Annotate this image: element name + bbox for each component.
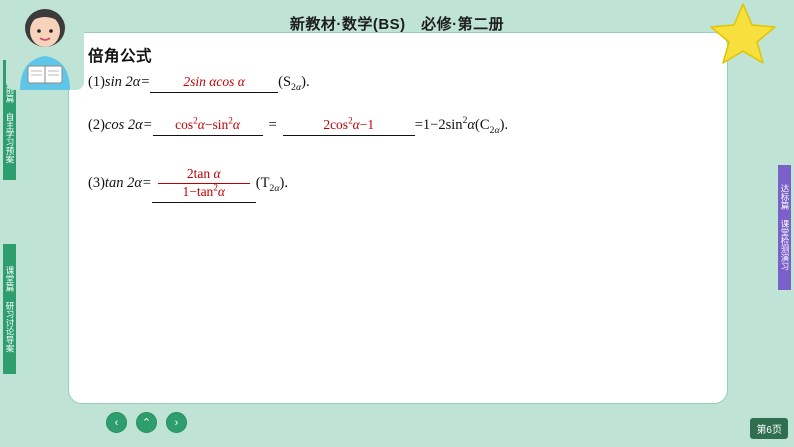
fraction-denominator: 1−tan2α: [158, 183, 250, 201]
formula-row: (2) cos 2α= cos2α−sin2α = 2cos2α−1 =1−2s…: [88, 117, 708, 136]
formula-label-2: (2): [88, 118, 105, 134]
formula-row: (3) tan 2α= 2tan α 1−tan2α (T2α).: [88, 166, 708, 203]
teacher-avatar-icon: [6, 4, 84, 90]
up-arrow-icon[interactable]: ⌃: [136, 412, 157, 433]
formula-tail-2: =1−2sin2α(C2α).: [415, 118, 508, 134]
formula-tail-1: (S2α).: [278, 75, 309, 91]
formula-mid-2: =: [263, 118, 283, 134]
formula-lhs-2: cos 2α=: [105, 118, 153, 134]
page-number-badge: 第6页: [750, 418, 788, 439]
answer-fraction-3: 2tan α 1−tan2α: [152, 166, 256, 202]
formula-tail-3: (T2α).: [256, 176, 288, 192]
formula-lhs-3: tan 2α=: [105, 176, 152, 192]
side-tab-test[interactable]: 达标篇 课堂检测演习: [778, 165, 791, 290]
answer-text-1: 2sin αcos α: [150, 74, 278, 92]
answer-text-2b: 2cos2α−1: [283, 117, 415, 135]
answer-blank-2a[interactable]: cos2α−sin2α: [153, 117, 263, 136]
star-icon: [710, 2, 776, 64]
prev-arrow-icon[interactable]: ‹: [106, 412, 127, 433]
answer-text-2a: cos2α−sin2α: [153, 117, 263, 135]
formula-row: (1) sin 2α= 2sin αcos α (S2α).: [88, 74, 708, 93]
answer-blank-2b[interactable]: 2cos2α−1: [283, 117, 415, 136]
fraction-numerator: 2tan α: [158, 166, 250, 183]
answer-blank-3[interactable]: 2tan α 1−tan2α: [152, 166, 256, 203]
formula-lhs-1: sin 2α=: [105, 75, 150, 91]
side-tab-classroom[interactable]: 课堂篇 研习讨论导案: [3, 244, 16, 374]
next-arrow-icon[interactable]: ›: [166, 412, 187, 433]
lesson-content: 倍角公式 (1) sin 2α= 2sin αcos α (S2α). (2) …: [88, 44, 708, 207]
page-navigation[interactable]: ‹ ⌃ ›: [106, 412, 187, 433]
formula-label-1: (1): [88, 75, 105, 91]
page-title: 新教材·数学(BS) 必修·第二册: [0, 13, 794, 34]
answer-blank-1[interactable]: 2sin αcos α: [150, 74, 278, 93]
section-title: 倍角公式: [88, 44, 708, 66]
formula-label-3: (3): [88, 176, 105, 192]
